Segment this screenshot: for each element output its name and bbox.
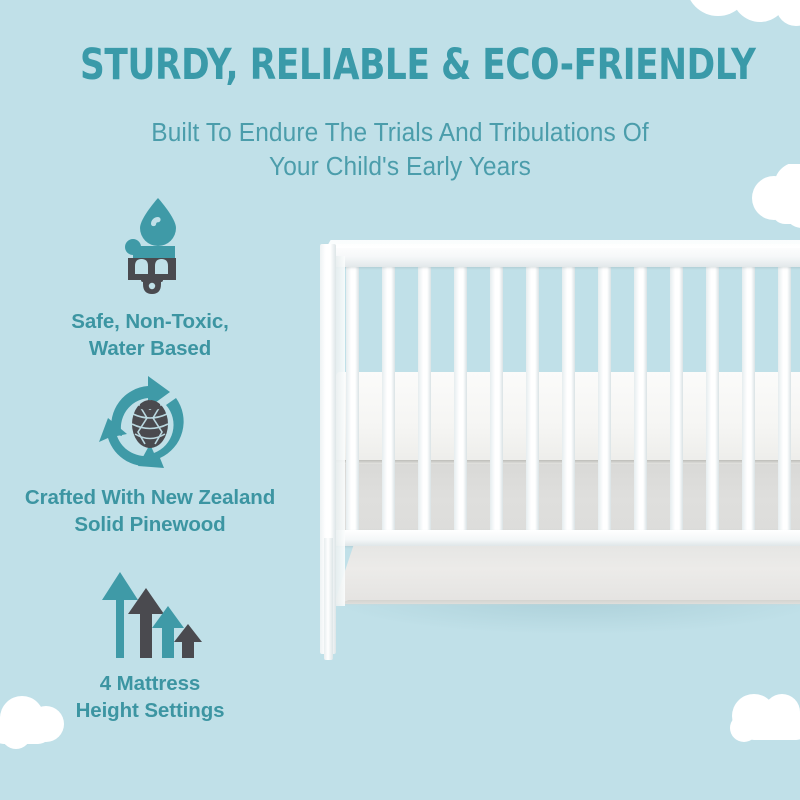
four-height-arrows-icon bbox=[94, 566, 206, 658]
crib-slats bbox=[344, 264, 800, 532]
paint-brush-water-drop-icon bbox=[113, 196, 187, 296]
feature-2-line-2: Solid Pinewood bbox=[0, 511, 300, 538]
feature-1-line-2: Water Based bbox=[0, 335, 300, 362]
crib-product-image bbox=[312, 232, 800, 692]
cloud-bottom-right bbox=[720, 694, 800, 750]
crib-skirt-lower bbox=[334, 546, 800, 604]
feature-list: Safe, Non-Toxic, Water Based bbox=[0, 196, 300, 736]
feature-label-safe-non-toxic: Safe, Non-Toxic, Water Based bbox=[0, 308, 300, 362]
crib-left-post-inner bbox=[336, 256, 345, 606]
crib-leg bbox=[324, 538, 333, 660]
feature-item-safe-non-toxic: Safe, Non-Toxic, Water Based bbox=[0, 196, 300, 356]
recycle-pinecone-icon bbox=[98, 372, 202, 472]
page-title: STURDY, RELIABLE & ECO-FRIENDLY bbox=[80, 42, 720, 88]
subtitle-line-1: Built To Endure The Trials And Tribulati… bbox=[16, 116, 784, 150]
feature-1-line-1: Safe, Non-Toxic, bbox=[0, 308, 300, 335]
page-subtitle: Built To Endure The Trials And Tribulati… bbox=[0, 116, 800, 184]
crib-skirt-hem bbox=[334, 600, 800, 606]
promo-banner: STURDY, RELIABLE & ECO-FRIENDLY Built To… bbox=[0, 0, 800, 800]
feature-3-line-1: 4 Mattress bbox=[0, 670, 300, 697]
crib-bottom-rail bbox=[322, 530, 800, 546]
subtitle-line-2: Your Child's Early Years bbox=[16, 150, 784, 184]
crib-top-rail-surface bbox=[326, 240, 800, 248]
feature-3-line-2: Height Settings bbox=[0, 697, 300, 724]
feature-label-mattress-heights: 4 Mattress Height Settings bbox=[0, 670, 300, 724]
feature-label-new-zealand-pinewood: Crafted With New Zealand Solid Pinewood bbox=[0, 484, 300, 538]
feature-2-line-1: Crafted With New Zealand bbox=[0, 484, 300, 511]
feature-item-mattress-heights: 4 Mattress Height Settings bbox=[0, 566, 300, 736]
feature-item-new-zealand-pinewood: Crafted With New Zealand Solid Pinewood bbox=[0, 372, 300, 552]
